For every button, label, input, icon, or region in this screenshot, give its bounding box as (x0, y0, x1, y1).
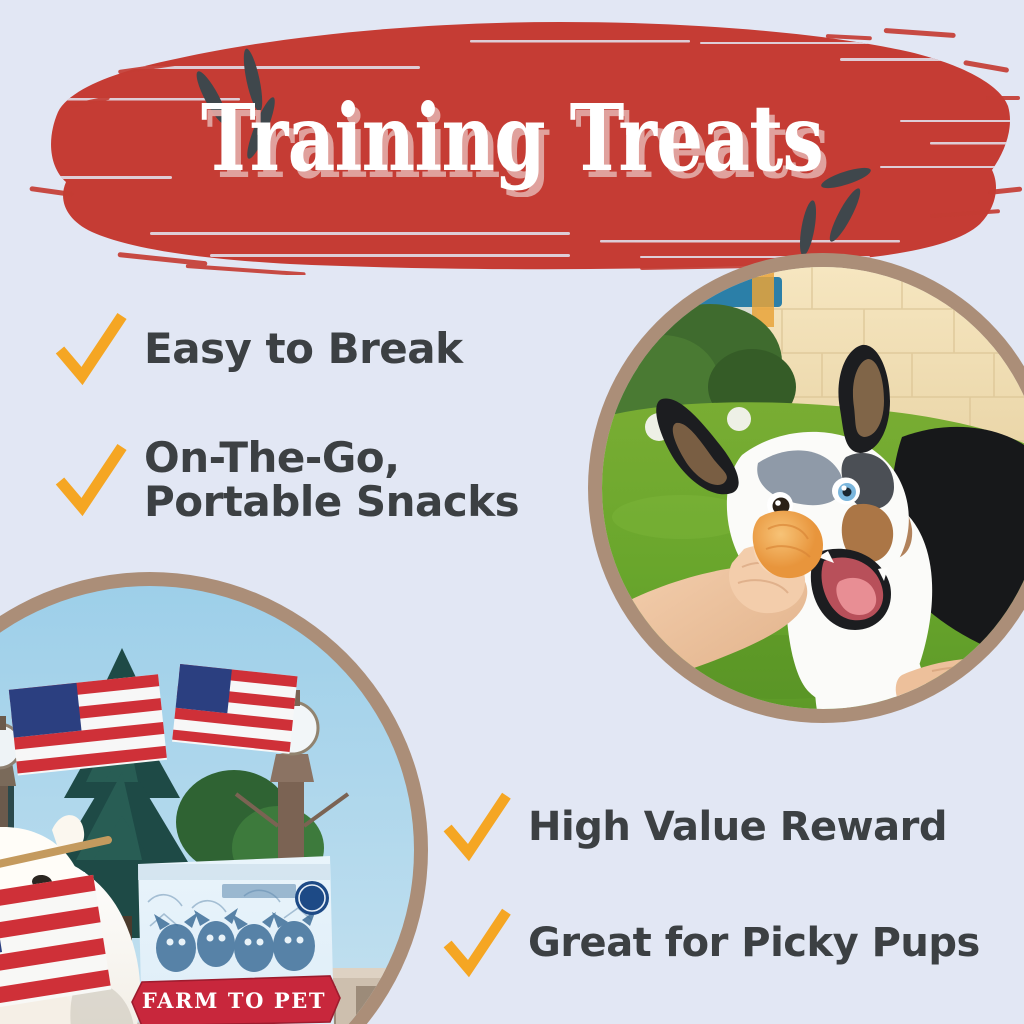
feature-label: Great for Picky Pups (528, 922, 980, 964)
check-icon (440, 790, 514, 864)
check-icon (440, 906, 514, 980)
header-banner: Training Treats (0, 0, 1024, 275)
feature-label: High Value Reward (528, 806, 947, 848)
feature-item-easy-to-break: Easy to Break (52, 310, 519, 388)
photo-pomeranian-with-flag-image: FARM TO PET Chicken Chips SINGLE INGREDI… (0, 586, 414, 1024)
photo-pomeranian-with-flag: FARM TO PET Chicken Chips SINGLE INGREDI… (0, 586, 414, 1024)
package-brand: FARM TO PET (142, 988, 326, 1013)
photo-dog-catching-treat (602, 267, 1024, 709)
feature-label: Easy to Break (144, 327, 463, 371)
feature-list-right: High Value Reward Great for Picky Pups (440, 790, 980, 980)
check-icon (52, 310, 130, 388)
poster-canvas: Training Treats (0, 0, 1024, 1024)
feature-item-on-the-go: On-The-Go, Portable Snacks (52, 436, 519, 524)
feature-item-high-value-reward: High Value Reward (440, 790, 980, 864)
feature-label: On-The-Go, Portable Snacks (144, 436, 519, 524)
check-icon (52, 441, 130, 519)
photo-dog-catching-treat-image (602, 267, 1024, 709)
feature-item-great-for-picky-pups: Great for Picky Pups (440, 906, 980, 980)
brush-stroke-banner-icon (0, 0, 1024, 275)
feature-list-left: Easy to Break On-The-Go, Portable Snacks (52, 310, 519, 524)
product-package: FARM TO PET Chicken Chips SINGLE INGREDI… (129, 856, 340, 1024)
